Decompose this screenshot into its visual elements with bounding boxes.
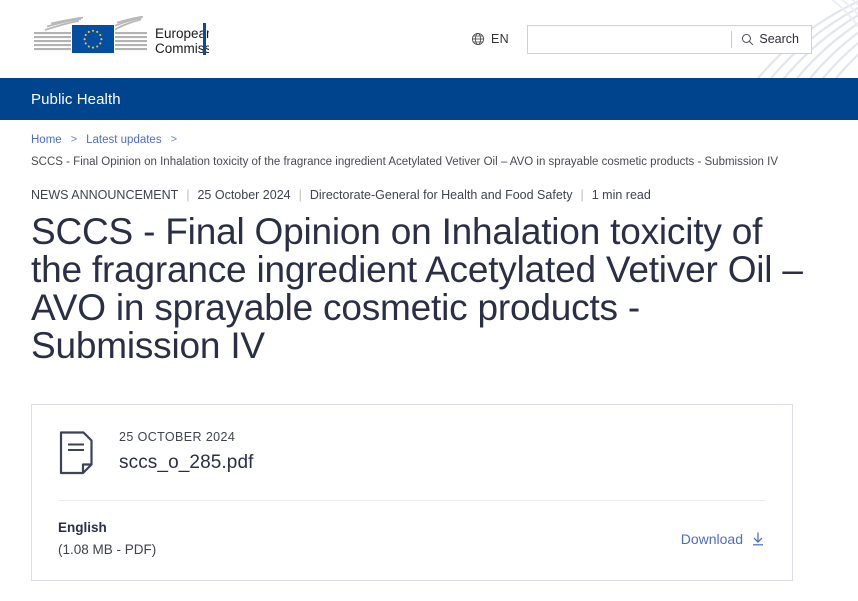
download-button[interactable]: Download: [681, 518, 766, 547]
chevron-right-icon: >: [171, 132, 177, 148]
document-card-header: 25 OCTOBER 2024 sccs_o_285.pdf: [58, 428, 766, 480]
logo-accent-bar: [203, 23, 206, 55]
language-switcher[interactable]: EN: [471, 32, 509, 46]
card-divider: [58, 500, 766, 501]
article-meta: NEWS ANNOUNCEMENT | 25 October 2024 | Di…: [31, 187, 827, 203]
logo-text-commission: Commission: [155, 41, 209, 56]
search-input[interactable]: [528, 26, 731, 53]
document-card-footer: English (1.08 MB - PDF) Download: [58, 518, 766, 560]
article-date: 25 October 2024: [197, 187, 290, 203]
search-icon: [741, 33, 754, 46]
article-department: Directorate-General for Health and Food …: [310, 187, 573, 203]
breadcrumb-current-page: SCCS - Final Opinion on Inhalation toxic…: [31, 155, 827, 170]
european-commission-logo[interactable]: European Commission: [31, 16, 209, 62]
meta-separator: |: [581, 187, 584, 203]
document-info: 25 OCTOBER 2024 sccs_o_285.pdf: [119, 428, 254, 474]
download-icon: [750, 531, 766, 547]
document-filename: sccs_o_285.pdf: [119, 452, 254, 474]
logo-text-european: European: [155, 26, 209, 41]
header-inner: European Commission EN: [0, 0, 858, 78]
header-right-tools: EN Search: [471, 25, 812, 54]
file-document-icon: [58, 428, 94, 480]
meta-separator: |: [186, 187, 189, 203]
breadcrumb-item-home[interactable]: Home: [31, 132, 62, 148]
document-card: 25 OCTOBER 2024 sccs_o_285.pdf English (…: [31, 404, 793, 581]
document-size: (1.08 MB - PDF): [58, 539, 156, 560]
breadcrumb-item-latest-updates[interactable]: Latest updates: [86, 132, 161, 148]
site-name[interactable]: Public Health: [31, 91, 121, 108]
search-button-label: Search: [759, 32, 799, 46]
globe-icon: [471, 32, 485, 46]
site-header: European Commission EN: [0, 0, 858, 78]
eu-flag-icon: European Commission: [31, 16, 209, 62]
page-title: SCCS - Final Opinion on Inhalation toxic…: [31, 213, 821, 365]
article: NEWS ANNOUNCEMENT | 25 October 2024 | Di…: [0, 187, 858, 365]
article-read-time: 1 min read: [592, 187, 651, 203]
search-box[interactable]: Search: [527, 25, 812, 54]
chevron-right-icon: >: [71, 132, 77, 148]
meta-separator: |: [299, 187, 302, 203]
site-band: Public Health: [0, 78, 858, 120]
document-date: 25 OCTOBER 2024: [119, 430, 254, 444]
breadcrumb-trail: Home > Latest updates >: [31, 132, 827, 148]
document-language-block: English (1.08 MB - PDF): [58, 518, 156, 560]
document-language: English: [58, 518, 156, 537]
language-code: EN: [491, 32, 509, 46]
download-label: Download: [681, 531, 743, 547]
article-type: NEWS ANNOUNCEMENT: [31, 187, 178, 203]
breadcrumb: Home > Latest updates > SCCS - Final Opi…: [0, 120, 858, 170]
search-button[interactable]: Search: [732, 26, 811, 53]
